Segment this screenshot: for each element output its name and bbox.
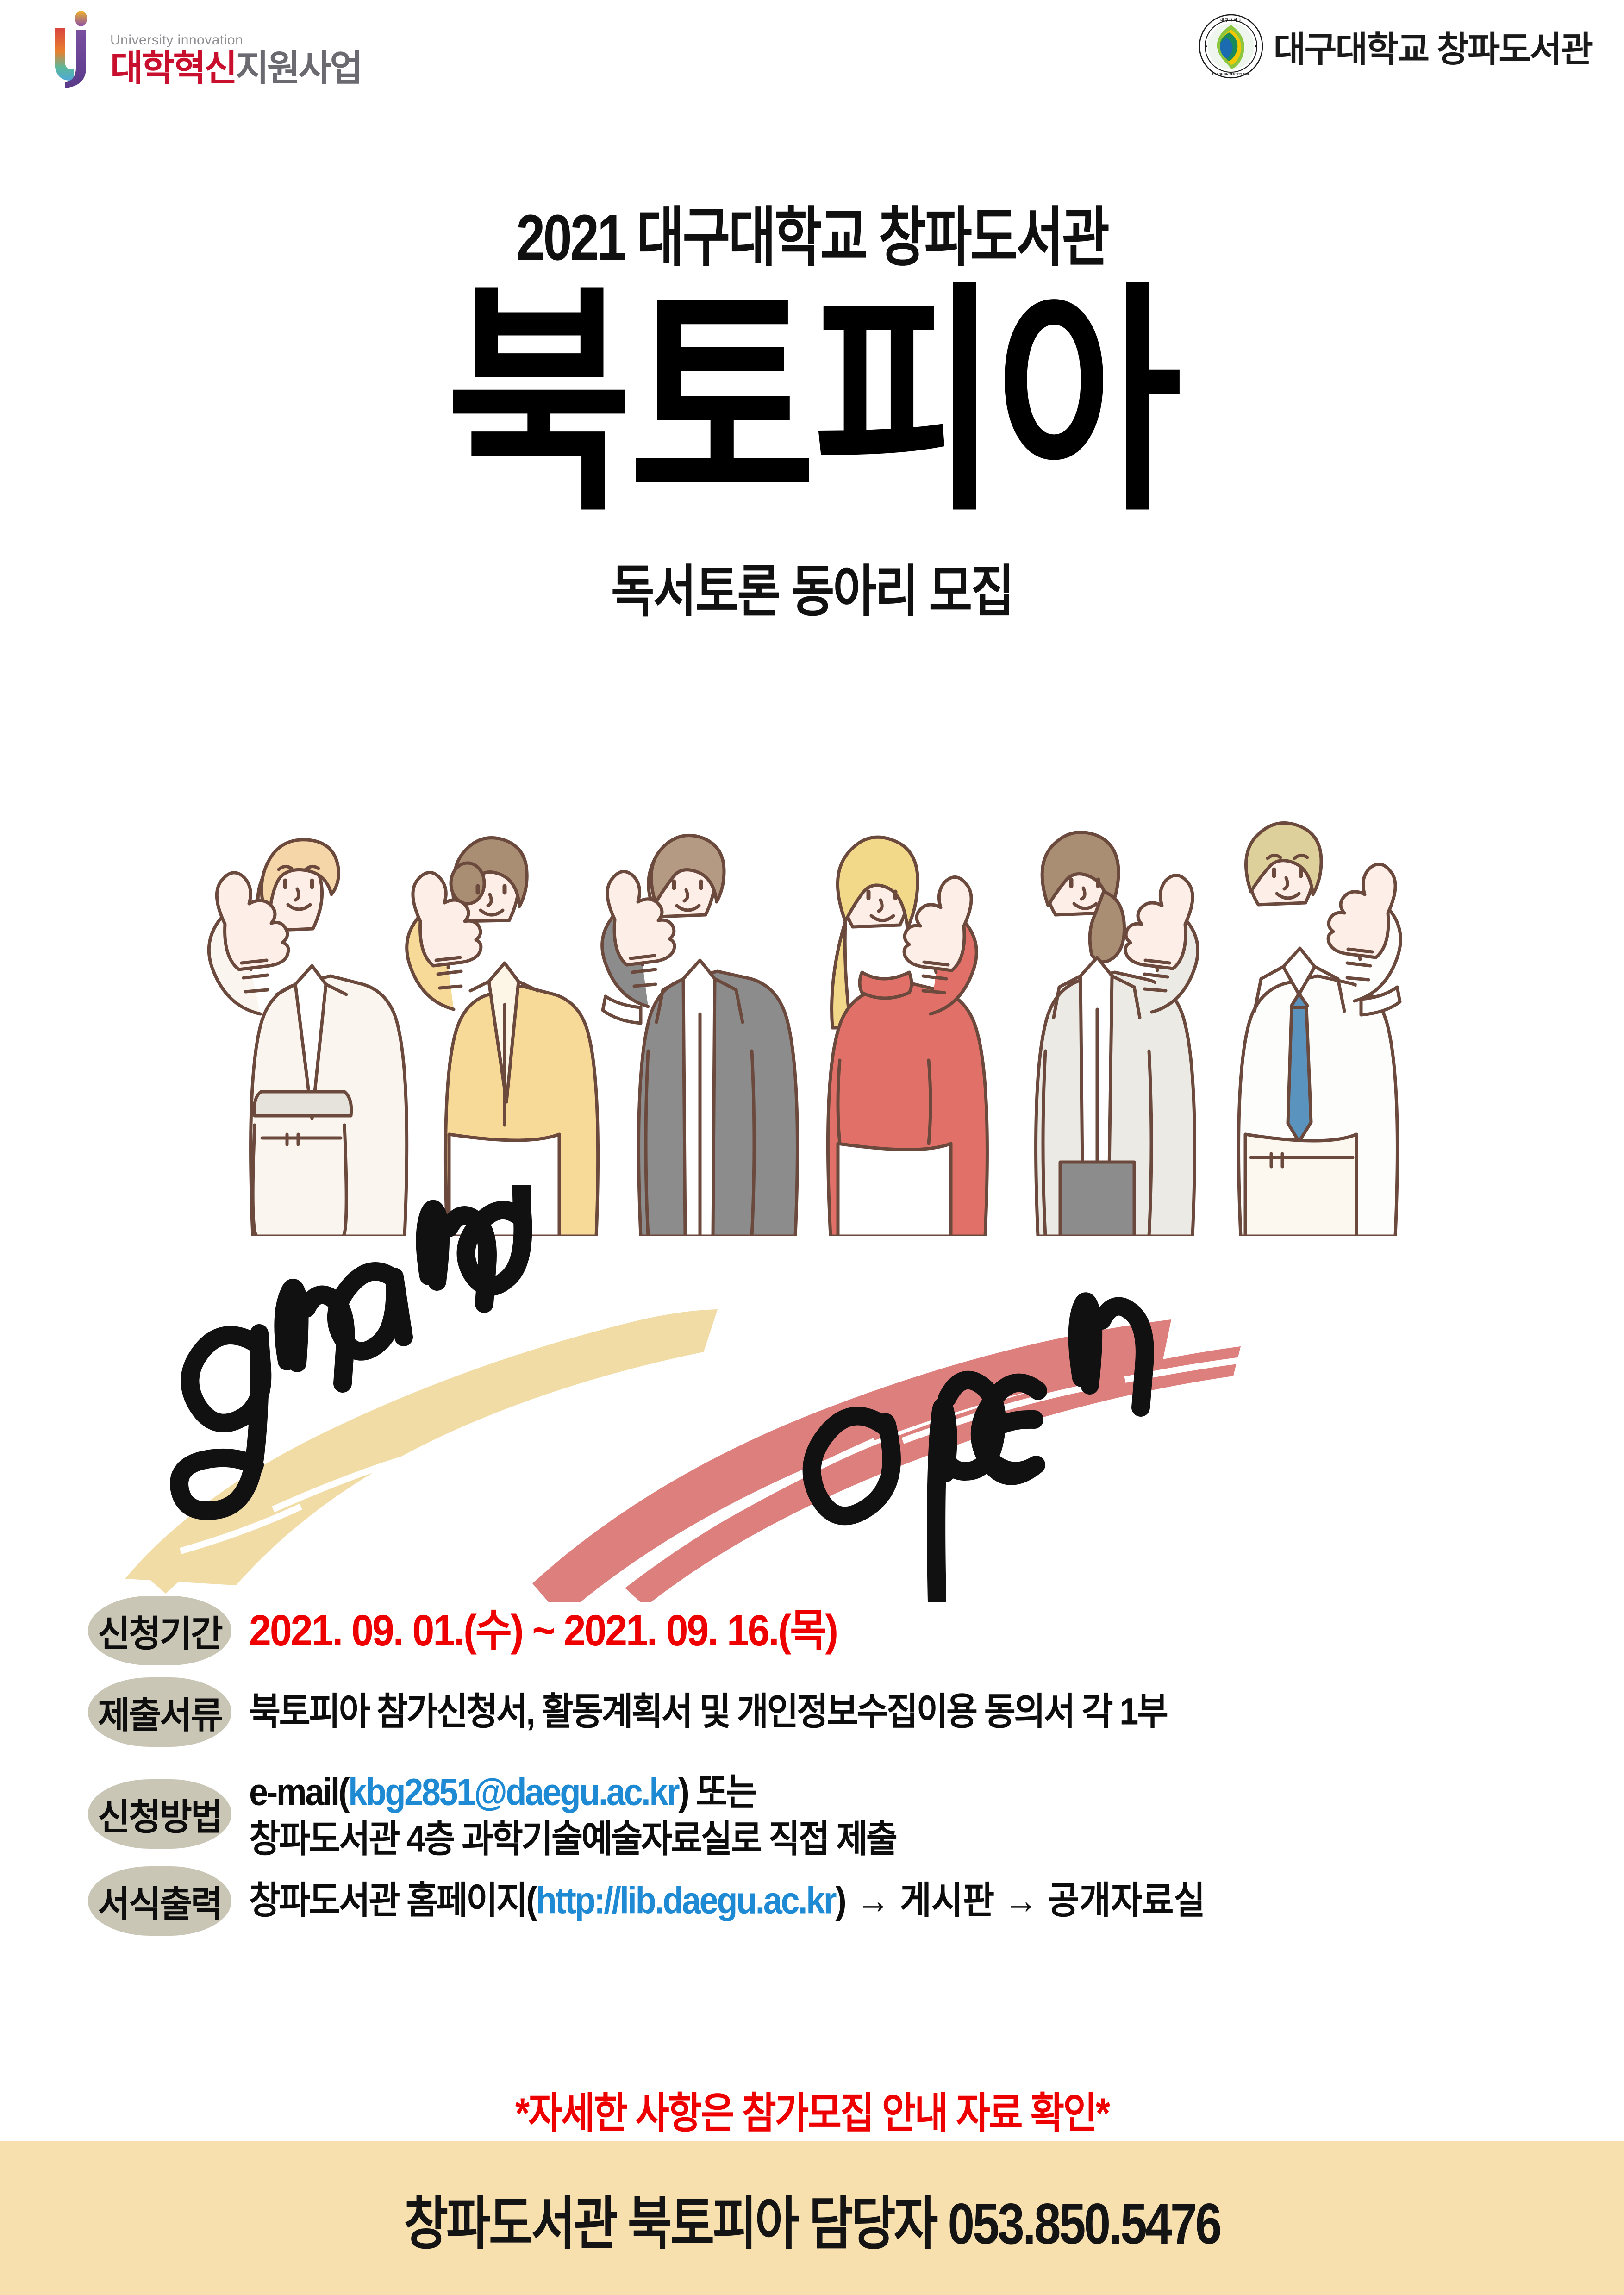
label-pill-documents-text: 제출서류 — [98, 1686, 222, 1738]
title-block: 2021 대구대학교 창파도서관 북토피아 독서토론 동아리 모집 — [0, 185, 1624, 615]
label-pill-period: 신청기간 — [88, 1596, 231, 1665]
value-method-line1-post: ) 또는 — [678, 1771, 756, 1813]
value-method-line2: 창파도서관 4층 과학기술예술자료실로 직접 제출 — [249, 1815, 1569, 1862]
university-innovation-wordmark: University innovation 대학혁신지원사업 — [110, 33, 361, 89]
value-method-line1-pre: e-mail( — [249, 1771, 348, 1813]
label-pill-method-text: 신청방법 — [98, 1788, 222, 1840]
grand-open-brush-graphic — [116, 1185, 1528, 1602]
ui-korean-gray: 지원사업 — [236, 48, 361, 88]
info-row-period: 신청기간 2021. 09. 01.(수) ~ 2021. 09. 16.(목) — [88, 1600, 1569, 1662]
info-row-method: 신청방법 e-mail(kbg2851@daegu.ac.kr) 또는 창파도서… — [88, 1762, 1569, 1853]
label-pill-documents: 제출서류 — [88, 1677, 231, 1747]
label-pill-form-download-text: 서식출력 — [98, 1875, 222, 1927]
title-kicker: 2021 대구대학교 창파도서관 — [0, 185, 1624, 279]
library-name: 대구대학교 창파도서관 — [1274, 21, 1592, 72]
value-method: e-mail(kbg2851@daegu.ac.kr) 또는 창파도서관 4층 … — [231, 1762, 1569, 1862]
value-documents: 북토피아 참가신청서, 활동계획서 및 개인정보수집이용 동의서 각 1부 — [231, 1681, 1569, 1735]
label-pill-method: 신청방법 — [88, 1779, 231, 1849]
svg-text:대 구 대 학 교: 대 구 대 학 교 — [1220, 18, 1242, 22]
info-row-documents: 제출서류 북토피아 참가신청서, 활동계획서 및 개인정보수집이용 동의서 각 … — [88, 1681, 1569, 1743]
value-form-download: 창파도서관 홈페이지(http://lib.daegu.ac.kr) → 게시판… — [231, 1870, 1569, 1924]
label-pill-form-download: 서식출력 — [88, 1866, 231, 1935]
page-title: 북토피아 — [0, 288, 1624, 519]
ui-korean-wordmark: 대학혁신지원사업 — [110, 50, 361, 86]
footnote: *자세한 사항은 참가모집 안내 자료 확인* — [0, 2079, 1624, 2140]
ui-english-tagline: University innovation — [110, 33, 361, 47]
poster-root: University innovation 대학혁신지원사업 대 구 대 학 교… — [0, 0, 1624, 2295]
library-logo: 대 구 대 학 교 DAEGU UNIVERSITY 1956 대구대학교 창파… — [1199, 14, 1592, 79]
homepage-link[interactable]: http://lib.daegu.ac.kr — [536, 1879, 835, 1921]
value-form-pre: 창파도서관 홈페이지( — [249, 1879, 536, 1921]
info-row-form-download: 서식출력 창파도서관 홈페이지(http://lib.daegu.ac.kr) … — [88, 1870, 1569, 1932]
footer-contact: 창파도서관 북토피아 담당자 053.850.5476 — [404, 2176, 1220, 2260]
email-link[interactable]: kbg2851@daegu.ac.kr — [348, 1771, 678, 1813]
daegu-university-seal-icon: 대 구 대 학 교 DAEGU UNIVERSITY 1956 — [1199, 14, 1263, 79]
value-period: 2021. 09. 01.(수) ~ 2021. 09. 16.(목) — [231, 1600, 1569, 1658]
university-innovation-logo: University innovation 대학혁신지원사업 — [46, 10, 361, 89]
footer-bar: 창파도서관 북토피아 담당자 053.850.5476 — [0, 2141, 1624, 2295]
six-people-thumbs-up-illustration — [116, 597, 1532, 1236]
svg-text:DAEGU UNIVERSITY 1956: DAEGU UNIVERSITY 1956 — [1212, 73, 1249, 76]
info-list: 신청기간 2021. 09. 01.(수) ~ 2021. 09. 16.(목)… — [88, 1600, 1569, 1932]
logo-bar: University innovation 대학혁신지원사업 대 구 대 학 교… — [0, 0, 1624, 139]
ui-korean-red: 대학혁신 — [110, 48, 236, 88]
uj-logo-icon — [46, 10, 102, 89]
value-method-line1: e-mail(kbg2851@daegu.ac.kr) 또는 — [249, 1769, 1569, 1815]
label-pill-period-text: 신청기간 — [98, 1604, 222, 1657]
value-form-post: ) → 게시판 → 공개자료실 — [835, 1879, 1206, 1921]
